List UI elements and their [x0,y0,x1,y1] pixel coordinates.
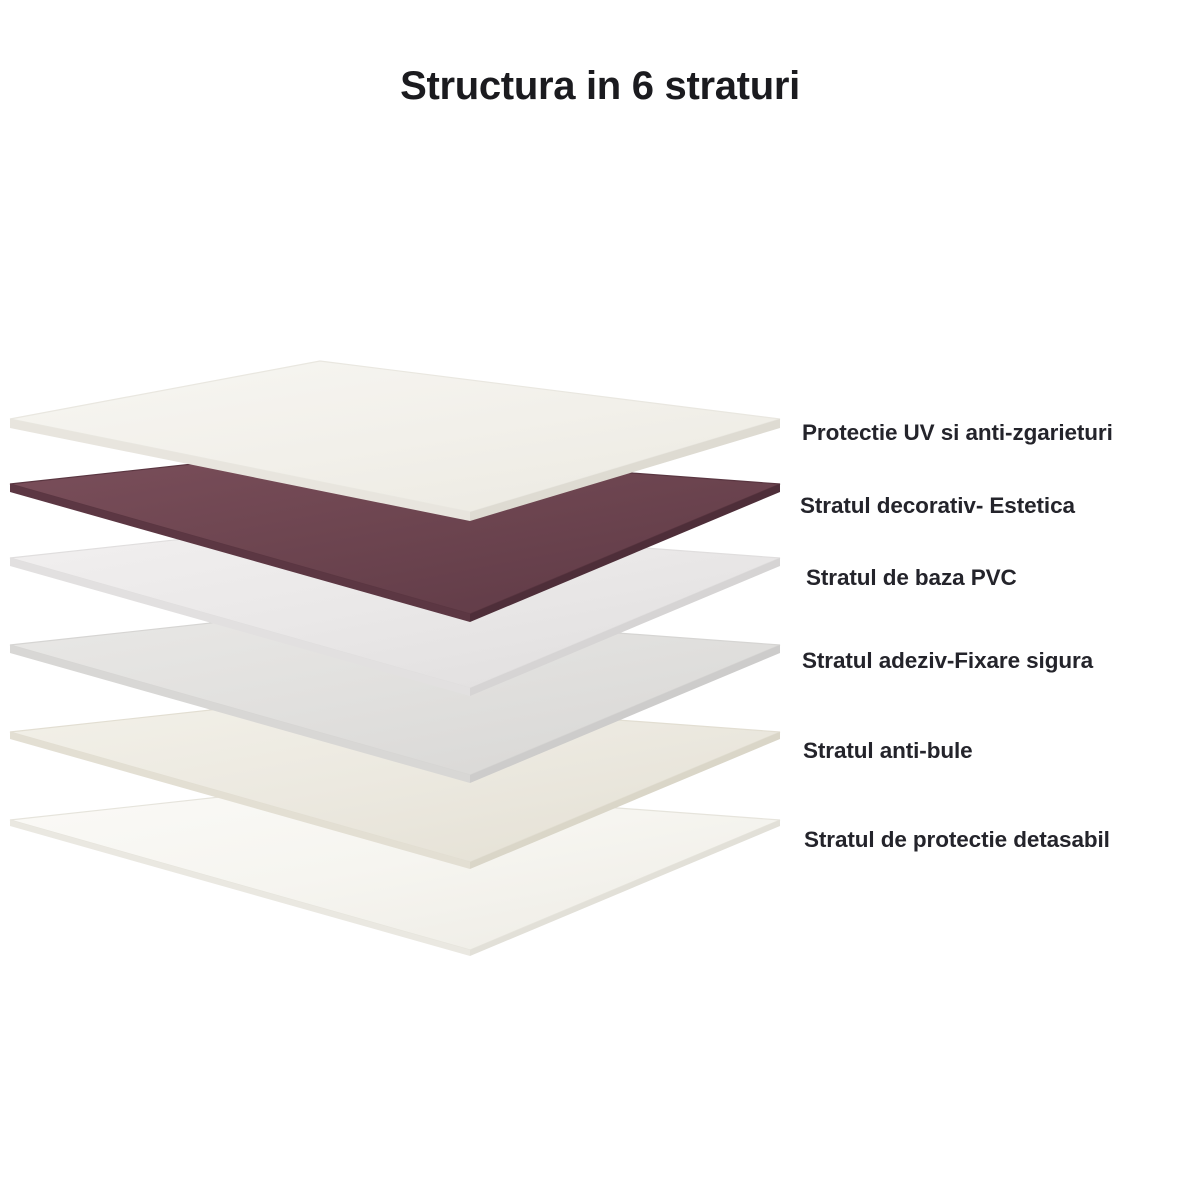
layer-label-1: Protectie UV si anti-zgarieturi [802,420,1113,446]
layer-label-3: Stratul de baza PVC [806,565,1017,591]
layer-label-5: Stratul anti-bule [803,738,973,764]
layer-label-6: Stratul de protectie detasabil [804,827,1110,853]
layer-label-2: Stratul decorativ- Estetica [800,493,1075,519]
layer-stack-diagram [0,0,1200,1200]
layer-label-4: Stratul adeziv-Fixare sigura [802,648,1093,674]
